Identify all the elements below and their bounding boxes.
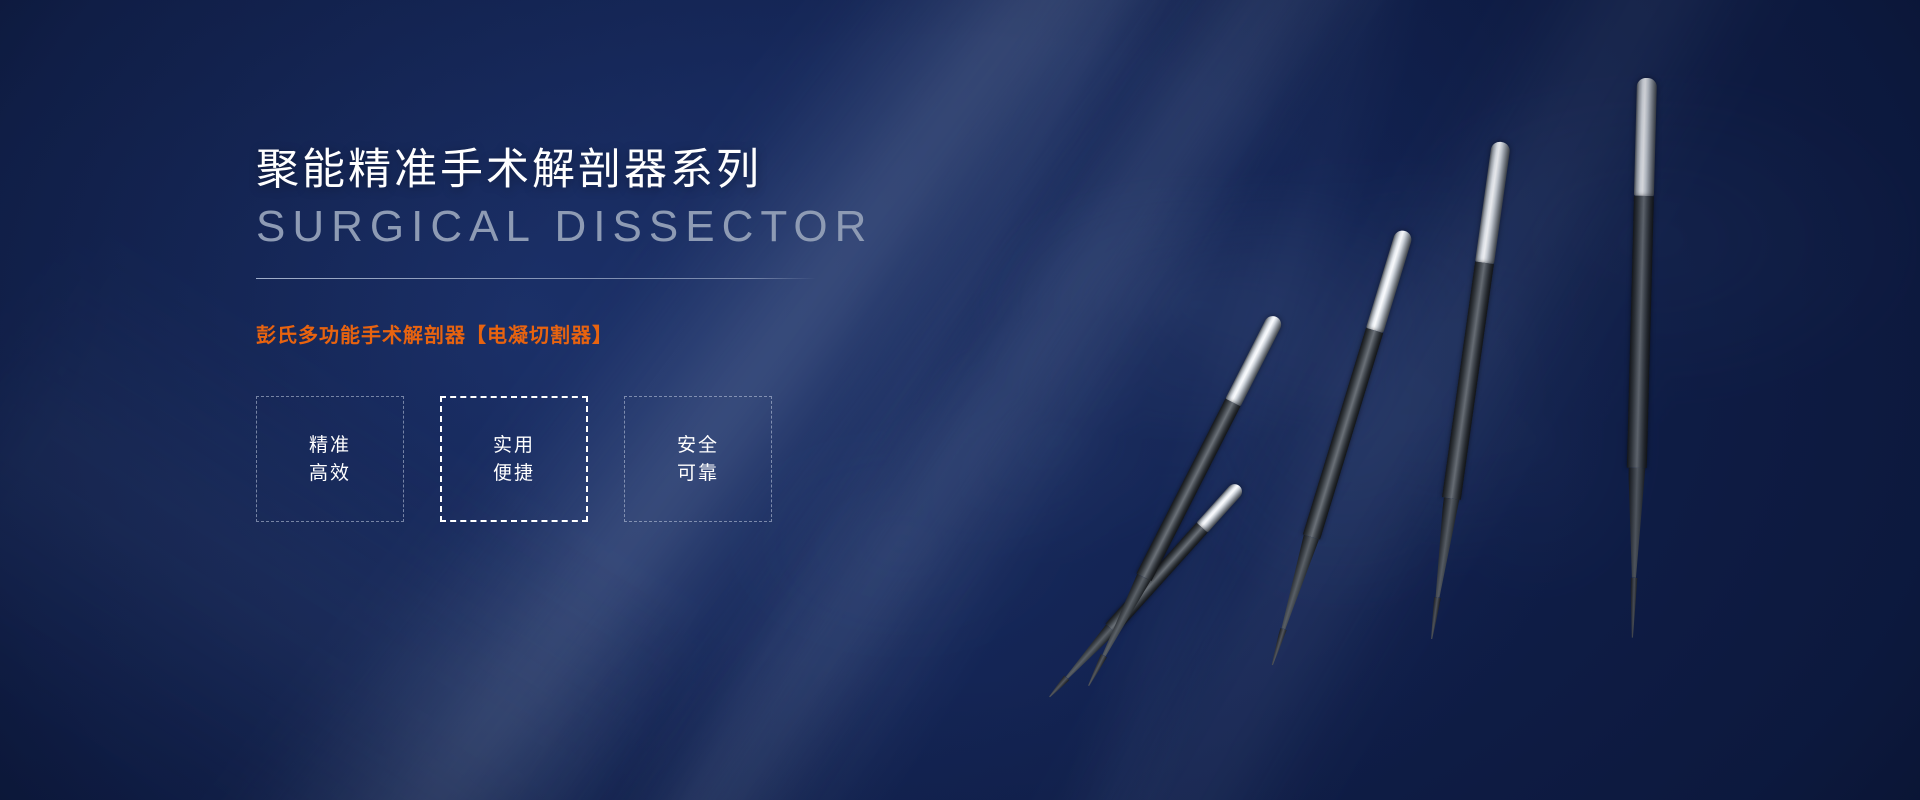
banner-subtitle: 彭氏多功能手术解剖器【电凝切割器】 (256, 319, 956, 348)
banner-title-cn: 聚能精准手术解剖器系列 (256, 146, 956, 196)
feature-badge-precision[interactable]: 精准 高效 (256, 396, 404, 522)
feature-badge-safety[interactable]: 安全 可靠 (624, 396, 772, 522)
feature-badge-practical-line1: 实用 (493, 436, 535, 455)
feature-badge-safety-line1: 安全 (677, 436, 719, 455)
feature-badge-row: 精准 高效 实用 便捷 安全 可靠 (256, 396, 956, 522)
feature-badge-precision-line1: 精准 (309, 436, 351, 455)
banner-copy: 聚能精准手术解剖器系列 SURGICAL DISSECTOR 彭氏多功能手术解剖… (256, 0, 956, 522)
feature-badge-practical-line2: 便捷 (493, 464, 535, 483)
hero-banner: 聚能精准手术解剖器系列 SURGICAL DISSECTOR 彭氏多功能手术解剖… (0, 0, 1920, 800)
feature-badge-safety-line2: 可靠 (677, 464, 719, 483)
title-divider (256, 278, 816, 279)
banner-title-en: SURGICAL DISSECTOR (256, 202, 956, 253)
feature-badge-precision-line2: 高效 (309, 464, 351, 483)
feature-badge-practical[interactable]: 实用 便捷 (440, 396, 588, 522)
